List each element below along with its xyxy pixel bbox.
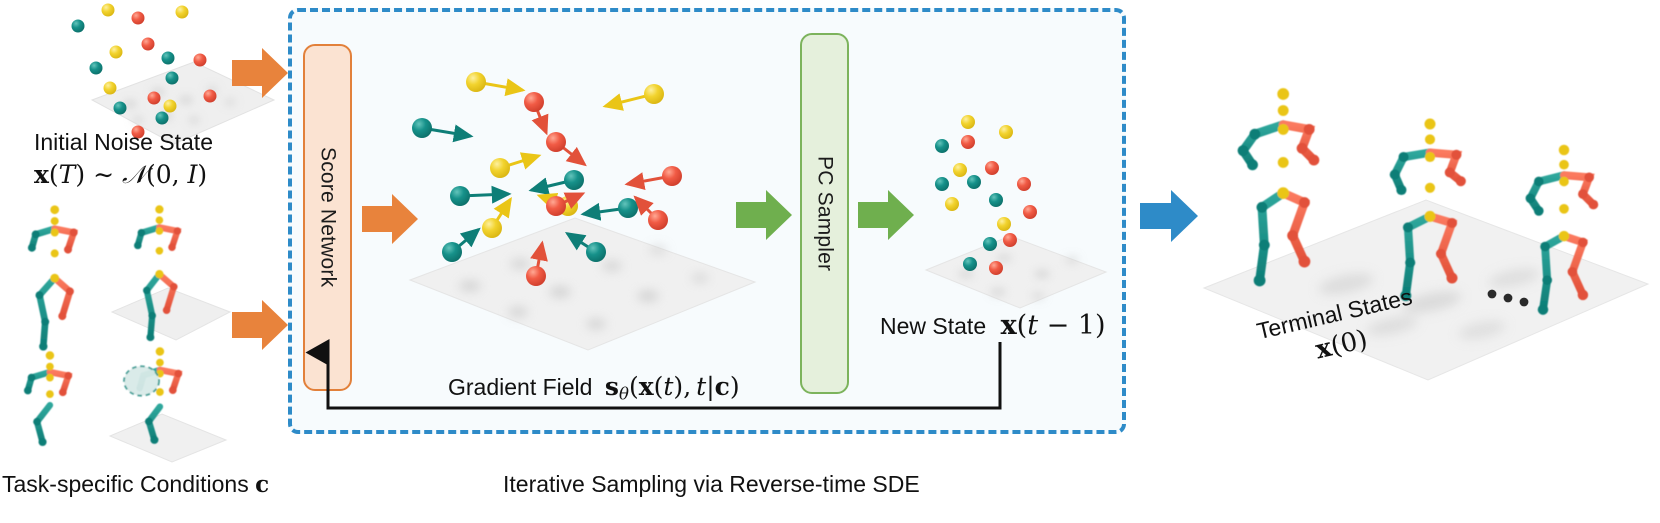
terminal-skeleton xyxy=(1238,88,1320,286)
vector-particle xyxy=(524,92,546,132)
vector-particle xyxy=(466,72,522,92)
conditions-caption-text: Task-specific Conditions xyxy=(2,471,249,497)
vector-particle xyxy=(450,186,508,206)
arrow-to-terminal-states xyxy=(1140,190,1198,242)
new-state-group xyxy=(912,108,1122,308)
math-normal-script: 𝒩 xyxy=(122,160,146,189)
iterative-sampling-caption: Iterative Sampling via Reverse-time SDE xyxy=(503,470,920,499)
math-newstate-t: t xyxy=(1027,310,1038,341)
condition-skeleton xyxy=(28,205,78,350)
initial-noise-math: x(T) ∼ 𝒩(0, I) xyxy=(34,160,207,190)
vector-particle xyxy=(636,198,668,230)
orange-block-arrow-icon xyxy=(232,300,288,350)
blue-block-arrow-icon xyxy=(1140,190,1198,242)
math-normal-args-close: ) xyxy=(197,160,207,189)
condition-skeleton xyxy=(24,351,72,446)
feedback-loop-arrow xyxy=(310,330,1010,420)
vector-particle xyxy=(490,156,538,178)
condition-skeleton-plane xyxy=(110,414,226,462)
conditions-group xyxy=(0,200,270,460)
arrow-conditions-to-score xyxy=(232,300,288,350)
math-T: T xyxy=(59,160,76,189)
math-paren: ( xyxy=(49,160,59,189)
conditions-caption: Task-specific Conditions c xyxy=(2,470,269,500)
green-block-arrow-icon xyxy=(858,190,914,240)
conditions-symbol: c xyxy=(255,471,269,498)
feedback-arrow-icon xyxy=(310,330,1010,420)
arrow-noise-to-score xyxy=(232,48,288,98)
math-x-bold: x xyxy=(34,160,49,189)
score-network-label: Score Network xyxy=(316,147,340,287)
vector-particle xyxy=(532,170,584,190)
vector-particle xyxy=(412,118,470,138)
math-newstate-expr: ( xyxy=(1017,310,1028,341)
new-state-plane xyxy=(926,236,1106,308)
condition-skeletons xyxy=(0,200,270,460)
arrow-field-to-sampler xyxy=(736,190,792,240)
new-state-math: x(t − 1) xyxy=(1001,310,1106,341)
vector-particle xyxy=(546,132,584,164)
occlusion-mask-icon xyxy=(124,366,159,395)
vector-particle xyxy=(584,198,638,218)
vector-particle xyxy=(482,200,510,238)
green-block-arrow-icon xyxy=(736,190,792,240)
initial-noise-label: Initial Noise State xyxy=(34,128,213,157)
figure-canvas: Initial Noise State x(T) ∼ 𝒩(0, I) xyxy=(0,0,1660,523)
pc-sampler-label: PC Sampler xyxy=(813,156,837,271)
new-state-visual xyxy=(912,108,1122,308)
math-I: I xyxy=(188,160,198,189)
math-sim: ∼ xyxy=(93,160,122,189)
math-newstate-minus: − 1) xyxy=(1038,310,1106,341)
vector-particle xyxy=(628,166,682,186)
arrow-sampler-to-newstate xyxy=(858,190,914,240)
orange-block-arrow-icon xyxy=(232,48,288,98)
math-paren-close: ) xyxy=(75,160,85,189)
math-normal-args: (0, xyxy=(146,160,180,189)
vector-particle xyxy=(606,84,664,106)
